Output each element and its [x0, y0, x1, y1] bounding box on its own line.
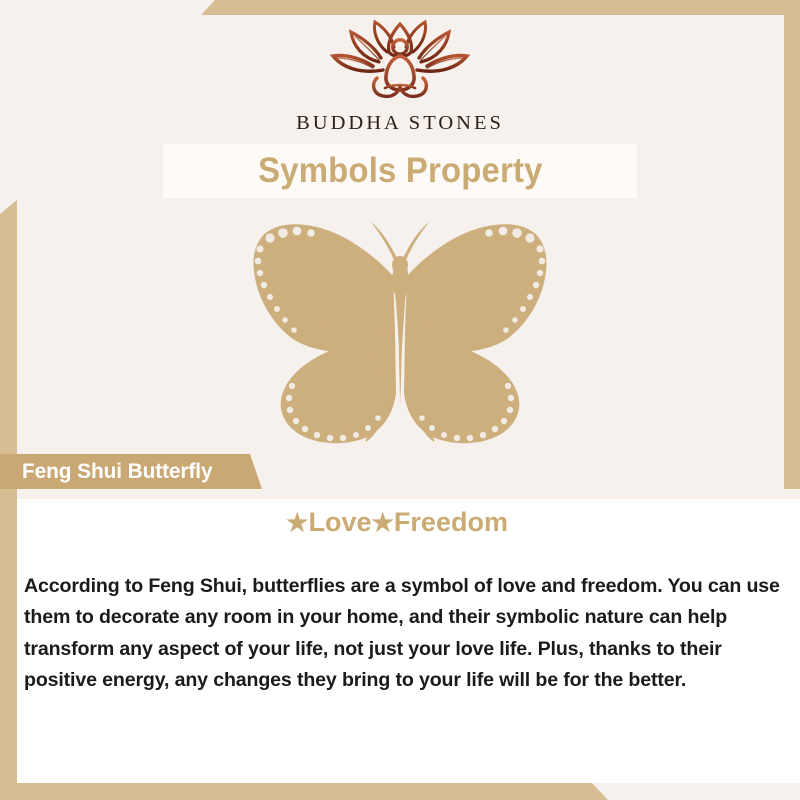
- lotus-meditation-icon: [315, 18, 485, 110]
- content-top-strip: [17, 489, 800, 499]
- title-band: Symbols Property: [163, 144, 637, 198]
- decor-top-gold-bar: [0, 0, 800, 15]
- page-title: Symbols Property: [258, 151, 543, 191]
- section-banner-label: Feng Shui Butterfly: [22, 459, 212, 484]
- keywords-row: ★Love★Freedom: [17, 507, 777, 538]
- star-icon-mid: ★: [372, 509, 394, 537]
- keyword-love: Love: [308, 507, 371, 537]
- decor-bottom-gold-bar: [0, 783, 800, 800]
- description-paragraph: According to Feng Shui, butterflies are …: [24, 571, 796, 697]
- brand-header: BUDDHA STONES: [0, 18, 800, 140]
- brand-name: BUDDHA STONES: [296, 112, 504, 135]
- keyword-freedom: Freedom: [394, 507, 508, 537]
- poster-canvas: BUDDHA STONES Symbols Property: [0, 0, 800, 800]
- artwork-area: [0, 205, 800, 455]
- butterfly-icon: [215, 208, 585, 453]
- section-banner: Feng Shui Butterfly: [0, 454, 262, 489]
- star-icon-left: ★: [286, 509, 308, 537]
- content-panel: ★Love★Freedom According to Feng Shui, bu…: [17, 489, 800, 783]
